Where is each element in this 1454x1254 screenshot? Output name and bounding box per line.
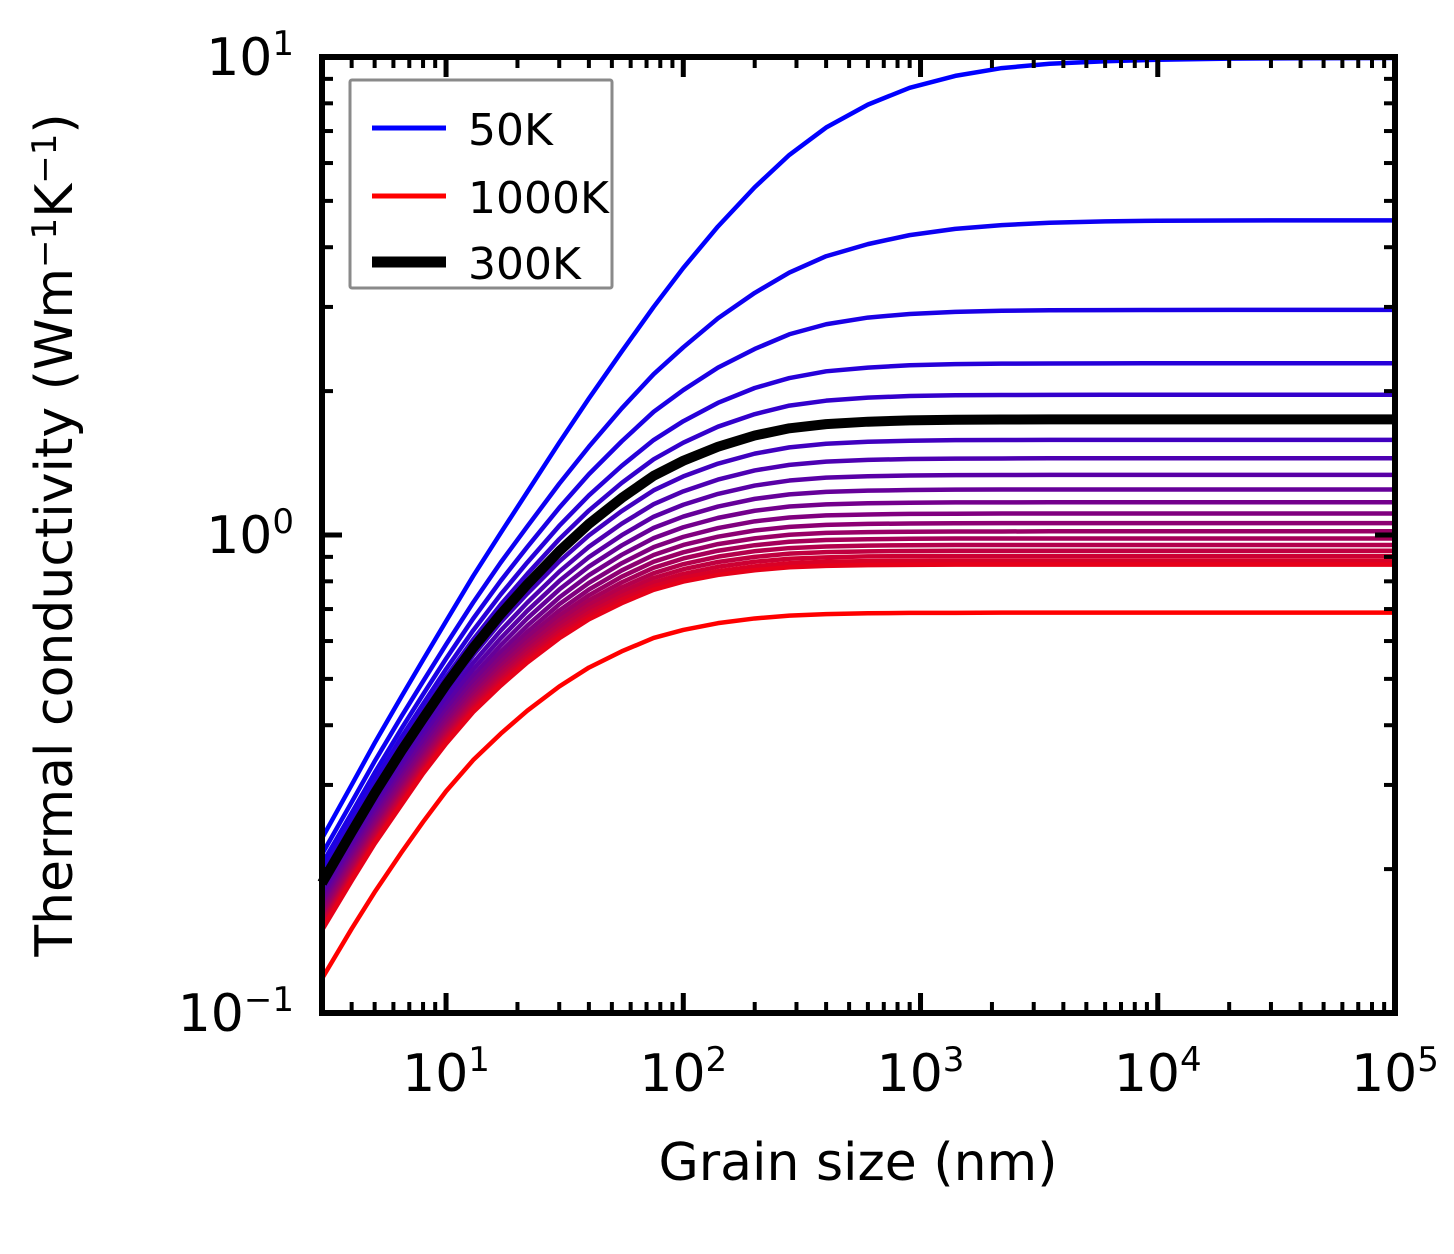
y-axis-label-exp2: −1 bbox=[25, 134, 65, 184]
legend-label-1000K: 1000K bbox=[468, 173, 610, 224]
figure-container: 10110010−1 101102103104105 Grain size (n… bbox=[0, 0, 1454, 1254]
legend-label-50K: 50K bbox=[468, 105, 554, 156]
y-axis-label-main: Thermal conductivity (Wm bbox=[25, 268, 85, 958]
legend[interactable]: 50K1000K300K bbox=[350, 80, 612, 290]
x-axis-label: Grain size (nm) bbox=[658, 1133, 1057, 1193]
legend-label-300K: 300K bbox=[468, 239, 582, 290]
y-axis-label-close: ) bbox=[25, 113, 85, 133]
thermal-conductivity-chart: 10110010−1 101102103104105 Grain size (n… bbox=[0, 0, 1454, 1254]
y-axis-label-mid: K bbox=[25, 182, 85, 218]
y-axis-label-exp1: −1 bbox=[25, 218, 65, 268]
